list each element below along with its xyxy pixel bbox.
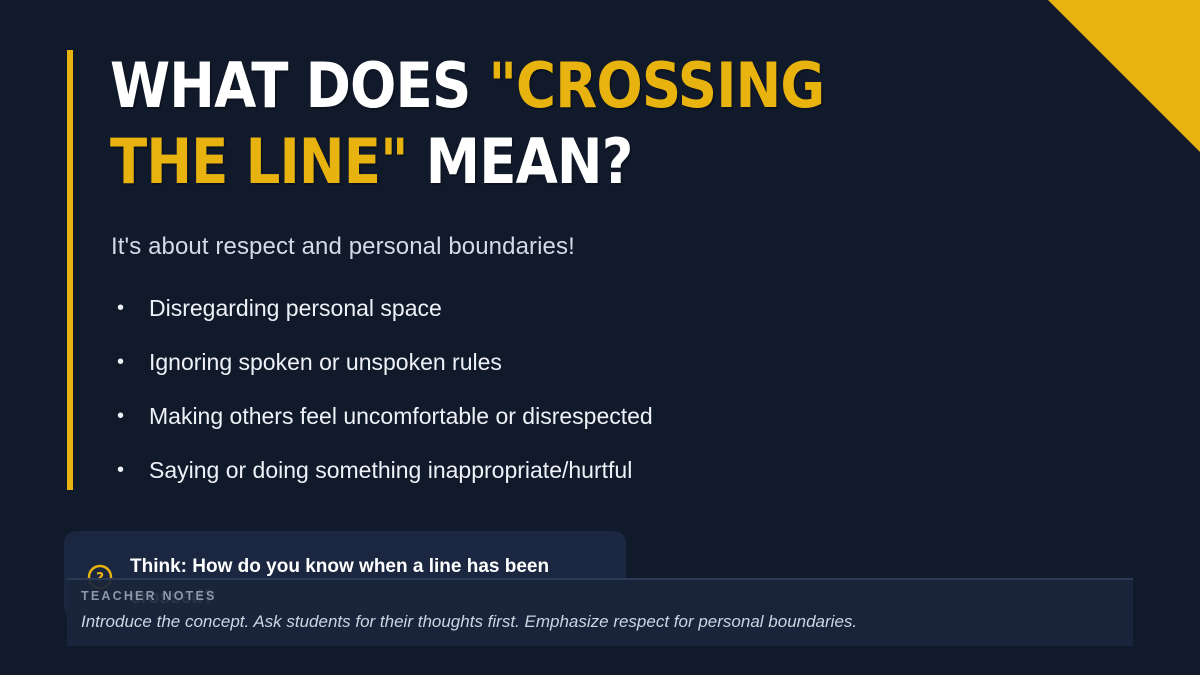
teacher-notes-body: Introduce the concept. Ask students for … <box>81 610 1119 634</box>
list-item: • Disregarding personal space <box>111 292 911 346</box>
left-accent-bar <box>67 50 73 490</box>
list-item: • Making others feel uncomfortable or di… <box>111 400 911 454</box>
slide-canvas: WHAT DOES "CROSSING THE LINE" MEAN? It's… <box>0 0 1200 675</box>
page-title: WHAT DOES "CROSSING THE LINE" MEAN? <box>110 48 902 200</box>
bullet-dot-icon: • <box>111 292 149 324</box>
corner-triangle-decoration <box>1048 0 1200 152</box>
list-item: • Ignoring spoken or unspoken rules <box>111 346 911 400</box>
bullet-dot-icon: • <box>111 454 149 486</box>
title-segment-white-2: MEAN? <box>408 125 633 198</box>
intro-text: It's about respect and personal boundari… <box>111 232 575 262</box>
list-item-label: Making others feel uncomfortable or disr… <box>149 400 911 432</box>
title-segment-white-1: WHAT DOES <box>110 49 488 122</box>
bullet-list: • Disregarding personal space • Ignoring… <box>111 292 911 508</box>
list-item-label: Disregarding personal space <box>149 292 911 324</box>
list-item-label: Saying or doing something inappropriate/… <box>149 454 911 486</box>
bullet-dot-icon: • <box>111 400 149 432</box>
list-item: • Saying or doing something inappropriat… <box>111 454 911 508</box>
bullet-dot-icon: • <box>111 346 149 378</box>
list-item-label: Ignoring spoken or unspoken rules <box>149 346 911 378</box>
teacher-notes-panel: TEACHER NOTES Introduce the concept. Ask… <box>67 578 1133 646</box>
teacher-notes-label: TEACHER NOTES <box>81 588 1119 604</box>
